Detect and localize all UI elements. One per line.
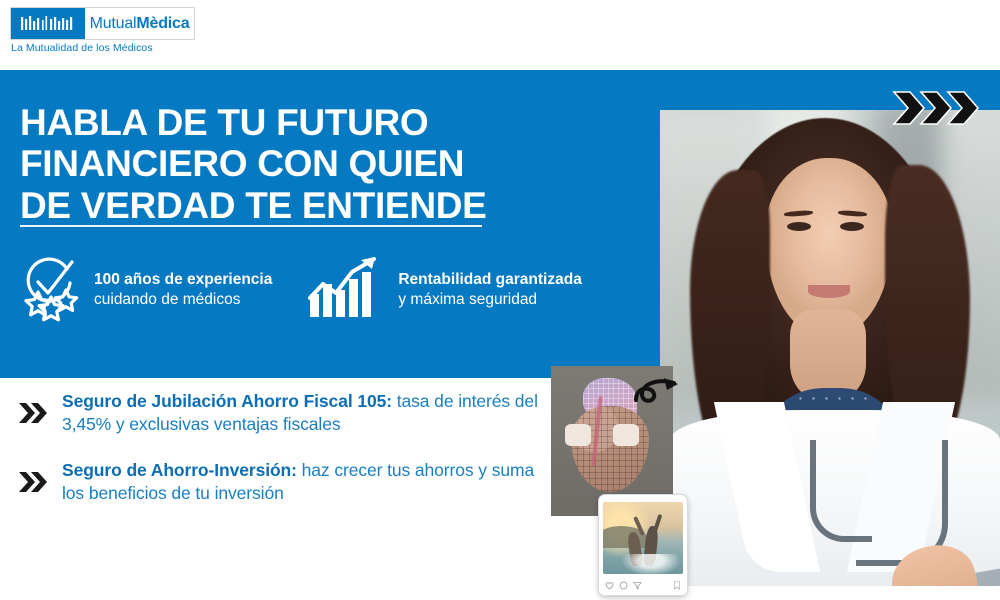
feature-line2: cuidando de médicos bbox=[94, 290, 272, 309]
social-action-bar bbox=[599, 577, 687, 595]
feature-text-profitability: Rentabilidad garantizada y máxima seguri… bbox=[398, 270, 581, 308]
feature-line2: y máxima seguridad bbox=[398, 290, 581, 309]
headline-line-2: FINANCIERO CON QUIEN bbox=[20, 143, 580, 184]
list-item-title: Seguro de Jubilación Ahorro Fiscal 105: bbox=[62, 391, 392, 411]
bookmark-icon[interactable] bbox=[673, 577, 681, 595]
feature-list: 100 años de experiencia cuidando de médi… bbox=[20, 252, 582, 327]
list-item[interactable]: Seguro de Ahorro-Inversión: haz crecer t… bbox=[0, 459, 560, 506]
list-item-title: Seguro de Ahorro-Inversión: bbox=[62, 460, 297, 480]
double-chevron-right-icon bbox=[18, 402, 48, 429]
feature-text-experience: 100 años de experiencia cuidando de médi… bbox=[94, 270, 272, 308]
poster-canvas: MutualMèdica La Mutualidad de los Médico… bbox=[0, 0, 1000, 600]
feature-item-experience: 100 años de experiencia cuidando de médi… bbox=[20, 252, 272, 327]
triple-chevron-right-icon bbox=[892, 90, 984, 131]
instagram-post-card[interactable] bbox=[598, 494, 688, 596]
headline-line-3: DE VERDAD TE ENTIENDE bbox=[20, 185, 580, 226]
check-stars-icon bbox=[20, 252, 82, 327]
brand-name-part1: Mutual bbox=[90, 15, 137, 33]
feature-line1: 100 años de experiencia bbox=[94, 270, 272, 289]
comment-icon[interactable] bbox=[619, 577, 628, 595]
growth-chart-arrow-icon bbox=[306, 254, 386, 325]
heart-icon[interactable] bbox=[605, 577, 614, 595]
feature-line1: Rentabilidad garantizada bbox=[398, 270, 581, 289]
feature-item-profitability: Rentabilidad garantizada y máxima seguri… bbox=[306, 254, 581, 325]
page-title: HABLA DE TU FUTURO FINANCIERO CON QUIEN … bbox=[20, 102, 580, 226]
header-bar: MutualMèdica La Mutualidad de los Médico… bbox=[0, 0, 1000, 70]
list-item-text: Seguro de Jubilación Ahorro Fiscal 105: … bbox=[62, 390, 560, 437]
brand-tagline: La Mutualidad de los Médicos bbox=[11, 42, 153, 54]
headline-divider bbox=[20, 225, 482, 227]
bars-logo-mark-icon bbox=[11, 8, 85, 39]
brand-wordmark: MutualMèdica bbox=[85, 8, 194, 39]
brand-logo[interactable]: MutualMèdica bbox=[10, 7, 195, 40]
list-item[interactable]: Seguro de Jubilación Ahorro Fiscal 105: … bbox=[0, 390, 560, 437]
social-post-image bbox=[603, 502, 683, 574]
share-icon[interactable] bbox=[633, 577, 642, 595]
doctor-portrait-photo bbox=[660, 110, 1000, 586]
headline-line-1: HABLA DE TU FUTURO bbox=[20, 102, 580, 143]
product-list: Seguro de Jubilación Ahorro Fiscal 105: … bbox=[0, 390, 560, 528]
list-item-text: Seguro de Ahorro-Inversión: haz crecer t… bbox=[62, 459, 560, 506]
double-chevron-right-icon bbox=[18, 471, 48, 498]
curved-arrow-icon bbox=[630, 372, 688, 417]
brand-name-part2: Mèdica bbox=[136, 15, 189, 33]
